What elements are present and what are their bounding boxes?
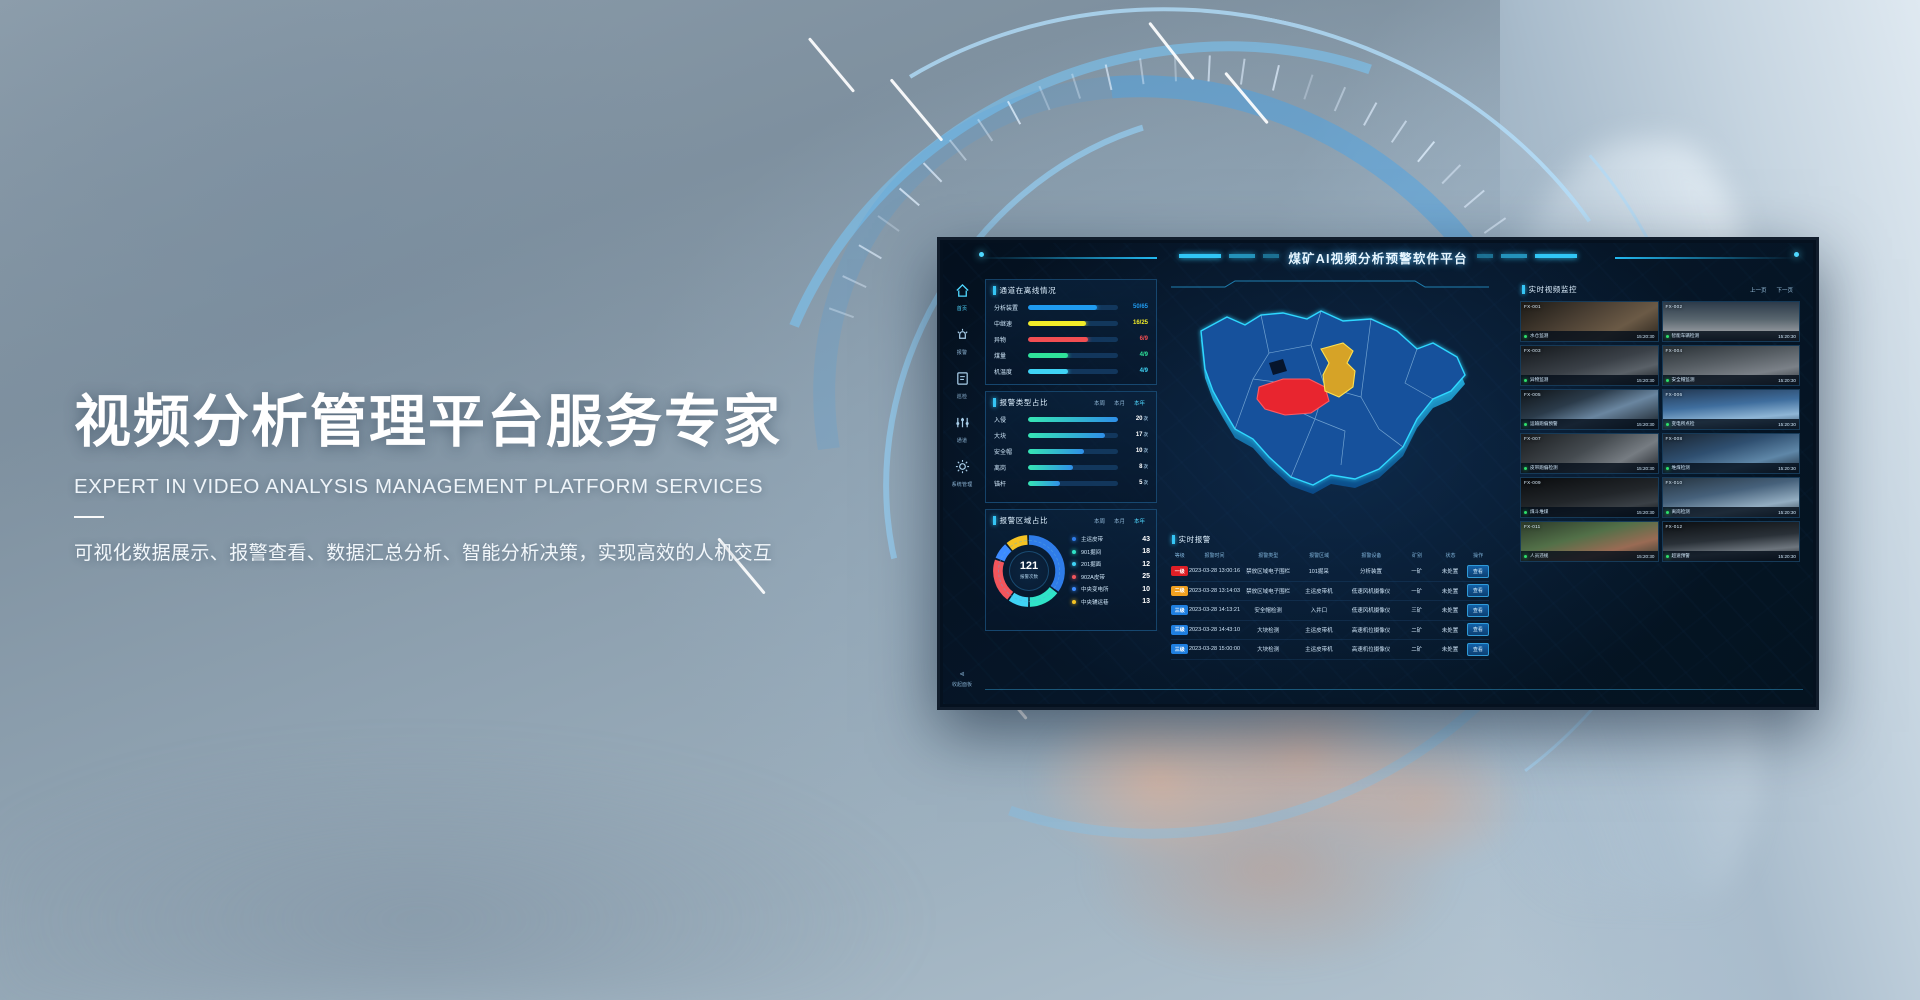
alarm-type-tab[interactable]: 本年 <box>1134 399 1145 407</box>
legend-value: 25 <box>1132 573 1150 580</box>
sidebar-item-label: 巡检 <box>957 393 967 400</box>
alarm-type-value: 8次 <box>1118 464 1148 470</box>
sidebar-item-label: 报警 <box>957 349 967 356</box>
alarm-view-button[interactable]: 查看 <box>1467 623 1489 636</box>
channel-row-list: 分析装置50/65中继速16/25异物6/9煤量4/9机温度4/9 <box>986 299 1156 379</box>
legend-label: 902A皮带 <box>1081 573 1132 581</box>
channel-row-value: 16/25 <box>1118 320 1148 326</box>
alarm-type-track <box>1028 481 1118 486</box>
channel-row-value: 6/9 <box>1118 336 1148 342</box>
video-tile-footer: 煤斗堆煤15:20:30 <box>1521 507 1658 517</box>
alarm-view-button[interactable]: 查看 <box>1467 565 1489 578</box>
channel-row-fill <box>1028 353 1068 358</box>
alarm-type-fill <box>1028 449 1084 454</box>
legend-color-dot <box>1072 550 1076 554</box>
alarm-type-period-tabs[interactable]: 本周本月本年 <box>1094 399 1149 407</box>
donut-center-value: 121 <box>1020 561 1038 572</box>
donut-legend-item: 902A皮带25 <box>1072 571 1150 584</box>
person-hand-blur <box>1000 690 1560 990</box>
alarm-mine: 二矿 <box>1400 645 1433 653</box>
video-tile-footer: 异物监测15:20:30 <box>1521 375 1658 385</box>
donut-legend-item: 主运皮带43 <box>1072 533 1150 546</box>
video-tile-name: 异物监测 <box>1530 377 1548 383</box>
alarm-area: 入井口 <box>1296 606 1342 614</box>
panel-realtime-alarm-header: 实时报警 <box>1165 529 1495 548</box>
channel-row-track <box>1028 321 1118 326</box>
legend-value: 13 <box>1132 598 1150 605</box>
background-blur-floor <box>0 660 1100 1000</box>
video-tile-time: 15:20:30 <box>1778 554 1796 559</box>
dashboard-monitor: 煤矿AI视频分析预警软件平台 首页报警巡检通道系统管理⫷收起面板 通道在离线情况… <box>937 237 1819 710</box>
alarm-column-header: 报警类型 <box>1241 552 1296 559</box>
channel-row-track <box>1028 337 1118 342</box>
alarm-table-header: 等级报警时间报警类型报警区域报警设备矿别状态操作 <box>1171 548 1489 562</box>
sidebar-item-1[interactable]: 首页 <box>943 275 981 319</box>
video-channel-id: FX-002 <box>1666 304 1683 309</box>
alarm-area-tab[interactable]: 本年 <box>1134 517 1145 525</box>
video-channel-id: FX-003 <box>1524 348 1541 353</box>
alarm-type-name: 入侵 <box>994 415 1028 424</box>
legend-color-dot <box>1072 537 1076 541</box>
donut-legend: 主运皮带43901掘间18201掘面12902A皮带25中央变电所10中央辅运巷… <box>1066 533 1150 608</box>
panel-realtime-alarm-title: 实时报警 <box>1179 534 1211 545</box>
channel-row-value: 50/65 <box>1118 304 1148 310</box>
page-description: 可视化数据展示、报警查看、数据汇总分析、智能分析决策，实现高效的人机交互 <box>74 538 904 565</box>
video-tile[interactable]: FX-006变电所点检15:20:30 <box>1662 389 1801 430</box>
video-channel-id: FX-009 <box>1524 480 1541 485</box>
alarm-column-header: 矿别 <box>1400 552 1433 559</box>
status-led-icon <box>1524 423 1527 426</box>
video-next-page-button[interactable]: 下一页 <box>1776 286 1793 294</box>
video-channel-id: FX-006 <box>1666 392 1683 397</box>
alarm-type-row: 入侵20次 <box>986 411 1156 427</box>
dashboard-header: 煤矿AI视频分析预警软件平台 <box>943 243 1813 273</box>
channel-row: 煤量4/9 <box>986 347 1156 363</box>
donut-legend-item: 中央辅运巷13 <box>1072 596 1150 609</box>
video-tile-name: 皮带跑偏检测 <box>1530 465 1558 471</box>
video-tile-time: 15:20:30 <box>1637 334 1655 339</box>
panel-video-title: 实时视频监控 <box>1529 284 1578 295</box>
alarm-area: 主运皮带机 <box>1296 587 1342 595</box>
channel-row-fill <box>1028 337 1088 342</box>
channel-row-fill <box>1028 305 1097 310</box>
legend-color-dot <box>1072 562 1076 566</box>
alarm-time: 2023-03-28 14:13:21 <box>1188 607 1240 613</box>
video-tile-footer: 皮带跑偏检测15:20:30 <box>1521 463 1658 473</box>
alarm-type-row: 离岗8次 <box>986 459 1156 475</box>
panel-channel-title: 通道在离线情况 <box>1000 285 1057 296</box>
alarm-type: 禁放区域电子围栏 <box>1241 567 1296 575</box>
video-tile-name: 运输跑偏预警 <box>1530 421 1558 427</box>
alarm-status: 未处置 <box>1433 645 1466 653</box>
video-tile-time: 15:20:30 <box>1778 422 1796 427</box>
gear-icon <box>955 459 970 479</box>
page-subtitle: EXPERT IN VIDEO ANALYSIS MANAGEMENT PLAT… <box>74 475 904 499</box>
status-led-icon <box>1524 555 1527 558</box>
video-tile-footer: 智能车辆检测15:20:30 <box>1663 331 1800 341</box>
alarm-type-fill <box>1028 481 1060 486</box>
dashboard-screen: 煤矿AI视频分析预警软件平台 首页报警巡检通道系统管理⫷收起面板 通道在离线情况… <box>943 243 1813 704</box>
legend-color-dot <box>1072 600 1076 604</box>
alarm-type-unit: 次 <box>1144 448 1149 453</box>
alarm-column-header: 等级 <box>1171 550 1188 560</box>
video-tile-name: 堆煤检测 <box>1672 465 1690 471</box>
legend-label: 901掘间 <box>1081 548 1132 556</box>
video-tile[interactable]: FX-012超速预警15:20:30 <box>1662 521 1801 562</box>
alarm-type-row: 安全帽10次 <box>986 443 1156 459</box>
alarm-column-header: 状态 <box>1434 552 1467 559</box>
channel-row: 中继速16/25 <box>986 315 1156 331</box>
panel-alarm-type: 报警类型占比 本周本月本年 入侵20次大块17次安全帽10次离岗8次锚杆5次 <box>985 391 1157 503</box>
alarm-table-row[interactable]: 三级2023-03-28 14:13:21安全帽检测入井口低速风机摄像仪三矿未处… <box>1171 601 1489 621</box>
alarm-device: 高速机位摄像仪 <box>1342 645 1400 653</box>
alarm-type-unit: 次 <box>1144 464 1149 469</box>
channel-row-name: 煤量 <box>994 351 1028 360</box>
alarm-type-fill <box>1028 465 1073 470</box>
video-channel-id: FX-012 <box>1666 524 1683 529</box>
alarm-type-name: 大块 <box>994 431 1028 440</box>
alarm-area: 101掘采 <box>1296 567 1342 575</box>
sidebar-item-2[interactable]: 报警 <box>943 319 981 363</box>
video-channel-id: FX-007 <box>1524 436 1541 441</box>
video-channel-id: FX-010 <box>1666 480 1683 485</box>
alarm-column-header: 报警时间 <box>1188 552 1240 559</box>
alarm-table-row[interactable]: 一级2023-03-28 13:00:16禁放区域电子围栏101掘采分析装置一矿… <box>1171 562 1489 582</box>
donut-chart: 121 报警次数 <box>992 534 1066 608</box>
status-led-icon <box>1666 511 1669 514</box>
alarm-mine: 一矿 <box>1400 567 1433 575</box>
alarm-type-track <box>1028 417 1118 422</box>
legend-value: 12 <box>1132 561 1150 568</box>
alarm-level-badge: 三级 <box>1171 644 1188 654</box>
channel-row: 机温度4/9 <box>986 363 1156 379</box>
alarm-view-button[interactable]: 查看 <box>1467 604 1489 617</box>
status-led-icon <box>1666 335 1669 338</box>
sidebar-item-5[interactable]: 系统管理 <box>943 451 981 495</box>
channel-row-name: 中继速 <box>994 319 1028 328</box>
alarm-status: 未处置 <box>1433 587 1466 595</box>
map-region-warn <box>1321 343 1355 397</box>
home-icon <box>955 283 970 303</box>
alarm-type-row: 大块17次 <box>986 427 1156 443</box>
alarm-level-badge: 三级 <box>1171 605 1188 615</box>
alarm-device: 高速机位摄像仪 <box>1342 626 1400 634</box>
sidebar-item-label: 首页 <box>957 305 967 312</box>
frame-bottom-line <box>985 689 1803 690</box>
video-tile-time: 15:20:30 <box>1637 554 1655 559</box>
alarm-type-track <box>1028 433 1118 438</box>
alarm-type-name: 锚杆 <box>994 479 1028 488</box>
video-tile-time: 15:20:30 <box>1778 466 1796 471</box>
alarm-type-value: 5次 <box>1118 480 1148 486</box>
channel-row-fill <box>1028 369 1068 374</box>
panel-channel-header: 通道在离线情况 <box>986 280 1156 299</box>
channel-row-name: 异物 <box>994 335 1028 344</box>
video-tile-name: 安全帽监测 <box>1672 377 1695 383</box>
sidebar-item-4[interactable]: 通道 <box>943 407 981 451</box>
video-tile-footer: 人员违规15:20:30 <box>1521 551 1658 561</box>
video-tile[interactable]: FX-004安全帽监测15:20:30 <box>1662 345 1801 386</box>
alarm-view-button[interactable]: 查看 <box>1467 643 1489 656</box>
channel-row-track <box>1028 305 1118 310</box>
video-tile-footer: 超速预警15:20:30 <box>1663 551 1800 561</box>
legend-label: 主运皮带 <box>1081 535 1132 543</box>
alarm-type: 安全帽检测 <box>1241 606 1296 614</box>
sidebar-item-label: 通道 <box>957 437 967 444</box>
region-map-svg <box>1165 279 1495 521</box>
legend-label: 中央辅运巷 <box>1081 598 1132 606</box>
channel-row-track <box>1028 369 1118 374</box>
alarm-time: 2023-03-28 13:00:16 <box>1188 568 1240 574</box>
channel-row-value: 4/9 <box>1118 352 1148 358</box>
alarm-icon <box>955 327 970 347</box>
video-tile-name: 水仓监测 <box>1530 333 1548 339</box>
alarm-column-header: 报警设备 <box>1342 552 1400 559</box>
alarm-mine: 一矿 <box>1400 587 1433 595</box>
alarm-status: 未处置 <box>1433 606 1466 614</box>
alarm-type-tab[interactable]: 本月 <box>1114 399 1125 407</box>
panel-channel-online: 通道在离线情况 分析装置50/65中继速16/25异物6/9煤量4/9机温度4/… <box>985 279 1157 385</box>
panel-alarm-type-title: 报警类型占比 <box>1000 397 1049 408</box>
video-channel-id: FX-008 <box>1666 436 1683 441</box>
channel-row-fill <box>1028 321 1086 326</box>
video-tile[interactable]: FX-008堆煤检测15:20:30 <box>1662 433 1801 474</box>
alarm-status: 未处置 <box>1433 567 1466 575</box>
alarm-column-header: 报警区域 <box>1296 552 1342 559</box>
legend-value: 43 <box>1132 536 1150 543</box>
video-tile-footer: 堆煤检测15:20:30 <box>1663 463 1800 473</box>
alarm-column-header: 操作 <box>1467 552 1489 559</box>
alarm-type-value: 20次 <box>1118 416 1148 422</box>
alarm-table-row[interactable]: 三级2023-03-28 15:00:00大块检测主运皮带机高速机位摄像仪二矿未… <box>1171 640 1489 660</box>
video-tile[interactable]: FX-003异物监测15:20:30 <box>1520 345 1659 386</box>
channel-row: 分析装置50/65 <box>986 299 1156 315</box>
alarm-device: 分析装置 <box>1342 567 1400 575</box>
alarm-type-row-list: 入侵20次大块17次安全帽10次离岗8次锚杆5次 <box>986 411 1156 491</box>
sidebar-item-3[interactable]: 巡检 <box>943 363 981 407</box>
status-led-icon <box>1666 467 1669 470</box>
video-tile-grid: FX-001水仓监测15:20:30FX-002智能车辆检测15:20:30FX… <box>1515 298 1805 567</box>
donut-legend-item: 901掘间18 <box>1072 546 1150 559</box>
channel-row-track <box>1028 353 1118 358</box>
legend-label: 中央变电所 <box>1081 585 1132 593</box>
channel-row-name: 分析装置 <box>994 303 1028 312</box>
video-tile-name: 人员违规 <box>1530 553 1548 559</box>
alarm-table: 等级报警时间报警类型报警区域报警设备矿别状态操作 一级2023-03-28 13… <box>1165 548 1495 660</box>
alarm-area-tab[interactable]: 本月 <box>1114 517 1125 525</box>
alarm-view-button[interactable]: 查看 <box>1467 584 1489 597</box>
video-tile[interactable]: FX-010离岗检测15:20:30 <box>1662 477 1801 518</box>
alarm-type-unit: 次 <box>1144 432 1149 437</box>
video-tile-footer: 运输跑偏预警15:20:30 <box>1521 419 1658 429</box>
video-channel-id: FX-011 <box>1524 524 1541 529</box>
alarm-device: 低速风机摄像仪 <box>1342 606 1400 614</box>
sidebar-item-label: 系统管理 <box>952 481 973 488</box>
alarm-type-tab[interactable]: 本周 <box>1094 399 1105 407</box>
alarm-mine: 二矿 <box>1400 626 1433 634</box>
video-tile[interactable]: FX-001水仓监测15:20:30 <box>1520 301 1659 342</box>
video-tile-time: 15:20:30 <box>1637 422 1655 427</box>
video-tile-time: 15:20:30 <box>1778 334 1796 339</box>
video-tile[interactable]: FX-009煤斗堆煤15:20:30 <box>1520 477 1659 518</box>
video-pagination[interactable]: 上一页 下一页 <box>1750 286 1798 294</box>
alarm-table-body: 一级2023-03-28 13:00:16禁放区域电子围栏101掘采分析装置一矿… <box>1171 562 1489 660</box>
panel-alarm-area: 报警区域占比 本周本月本年 121 报警次数 主运皮带43901掘间18201掘… <box>985 509 1157 631</box>
alarm-type-value: 17次 <box>1118 432 1148 438</box>
alarm-type-track <box>1028 465 1118 470</box>
video-tile[interactable]: FX-005运输跑偏预警15:20:30 <box>1520 389 1659 430</box>
panel-video-header: 实时视频监控 上一页 下一页 <box>1515 279 1805 298</box>
alarm-time: 2023-03-28 13:14:03 <box>1188 588 1240 594</box>
video-channel-id: FX-001 <box>1524 304 1541 309</box>
alarm-status: 未处置 <box>1433 626 1466 634</box>
video-tile-footer: 水仓监测15:20:30 <box>1521 331 1658 341</box>
donut-legend-item: 201掘面12 <box>1072 558 1150 571</box>
alarm-level-badge: 二级 <box>1171 586 1188 596</box>
panel-realtime-alarm: 实时报警 等级报警时间报警类型报警区域报警设备矿别状态操作 一级2023-03-… <box>1165 529 1495 665</box>
legend-value: 10 <box>1132 586 1150 593</box>
legend-color-dot <box>1072 575 1076 579</box>
channel-row: 异物6/9 <box>986 331 1156 347</box>
video-tile-time: 15:20:30 <box>1637 378 1655 383</box>
legend-label: 201掘面 <box>1081 560 1132 568</box>
alarm-type-name: 安全帽 <box>994 447 1028 456</box>
sidebar-collapse-button[interactable]: ⫷收起面板 <box>943 663 981 688</box>
legend-value: 18 <box>1132 548 1150 555</box>
channel-row-value: 4/9 <box>1118 368 1148 374</box>
alarm-area-donut-block: 121 报警次数 主运皮带43901掘间18201掘面12902A皮带25中央变… <box>986 529 1156 608</box>
alarm-type-fill <box>1028 417 1118 422</box>
video-tile-name: 智能车辆检测 <box>1672 333 1700 339</box>
alarm-type-fill <box>1028 433 1105 438</box>
video-channel-id: FX-004 <box>1666 348 1683 353</box>
video-tile-time: 15:20:30 <box>1637 510 1655 515</box>
alarm-area: 主运皮带机 <box>1296 626 1342 634</box>
panel-alarm-area-header: 报警区域占比 本周本月本年 <box>986 510 1156 529</box>
video-tile[interactable]: FX-007皮带跑偏检测15:20:30 <box>1520 433 1659 474</box>
alarm-device: 低速风机摄像仪 <box>1342 587 1400 595</box>
video-tile[interactable]: FX-002智能车辆检测15:20:30 <box>1662 301 1801 342</box>
video-tile-name: 变电所点检 <box>1672 421 1695 427</box>
alarm-mine: 三矿 <box>1400 606 1433 614</box>
panel-alarm-type-header: 报警类型占比 本周本月本年 <box>986 392 1156 411</box>
donut-center: 121 报警次数 <box>1009 551 1049 591</box>
status-led-icon <box>1524 335 1527 338</box>
video-tile-time: 15:20:30 <box>1778 378 1796 383</box>
alarm-type-name: 离岗 <box>994 463 1028 472</box>
video-prev-page-button[interactable]: 上一页 <box>1750 286 1767 294</box>
status-led-icon <box>1524 379 1527 382</box>
alarm-type: 大块检测 <box>1241 626 1296 634</box>
divider-rule <box>74 516 104 518</box>
alarm-time: 2023-03-28 15:00:00 <box>1188 646 1240 652</box>
panel-video-monitor: 实时视频监控 上一页 下一页 FX-001水仓监测15:20:30FX-002智… <box>1515 279 1805 666</box>
video-tile-time: 15:20:30 <box>1637 466 1655 471</box>
panel-region-map[interactable] <box>1165 279 1495 521</box>
alarm-type-value: 10次 <box>1118 448 1148 454</box>
legend-color-dot <box>1072 587 1076 591</box>
video-tile-footer: 变电所点检15:20:30 <box>1663 419 1800 429</box>
alarm-level-badge: 一级 <box>1171 566 1188 576</box>
alarm-type-unit: 次 <box>1144 416 1149 421</box>
donut-center-label: 报警次数 <box>1020 574 1038 580</box>
inspection-icon <box>955 371 970 391</box>
video-tile-footer: 离岗检测15:20:30 <box>1663 507 1800 517</box>
channel-icon <box>955 415 970 435</box>
channel-row-name: 机温度 <box>994 367 1028 376</box>
alarm-type-row: 锚杆5次 <box>986 475 1156 491</box>
sidebar-collapse-label: 收起面板 <box>943 681 981 688</box>
panel-alarm-area-title: 报警区域占比 <box>1000 515 1049 526</box>
alarm-area-period-tabs[interactable]: 本周本月本年 <box>1094 517 1149 525</box>
alarm-table-row[interactable]: 二级2023-03-28 13:14:03禁放区域电子围栏主运皮带机低速风机摄像… <box>1171 582 1489 602</box>
video-tile[interactable]: FX-011人员违规15:20:30 <box>1520 521 1659 562</box>
alarm-area: 主运皮带机 <box>1296 645 1342 653</box>
alarm-time: 2023-03-28 14:43:10 <box>1188 627 1240 633</box>
status-led-icon <box>1666 423 1669 426</box>
alarm-area-tab[interactable]: 本周 <box>1094 517 1105 525</box>
page-title: 视频分析管理平台服务专家 <box>74 393 904 453</box>
status-led-icon <box>1524 511 1527 514</box>
alarm-table-row[interactable]: 三级2023-03-28 14:43:10大块检测主运皮带机高速机位摄像仪二矿未… <box>1171 621 1489 641</box>
video-channel-id: FX-005 <box>1524 392 1541 397</box>
hero-text-block: 视频分析管理平台服务专家 EXPERT IN VIDEO ANALYSIS MA… <box>74 393 904 565</box>
video-tile-name: 离岗检测 <box>1672 509 1690 515</box>
collapse-icon: ⫷ <box>960 669 965 678</box>
donut-legend-item: 中央变电所10 <box>1072 583 1150 596</box>
video-tile-name: 煤斗堆煤 <box>1530 509 1548 515</box>
status-led-icon <box>1524 467 1527 470</box>
video-tile-name: 超速预警 <box>1672 553 1690 559</box>
sidebar-nav[interactable]: 首页报警巡检通道系统管理⫷收起面板 <box>943 275 981 704</box>
alarm-level-badge: 三级 <box>1171 625 1188 635</box>
alarm-type: 禁放区域电子围栏 <box>1241 587 1296 595</box>
alarm-type: 大块检测 <box>1241 645 1296 653</box>
status-led-icon <box>1666 555 1669 558</box>
alarm-type-track <box>1028 449 1118 454</box>
video-tile-time: 15:20:30 <box>1778 510 1796 515</box>
status-led-icon <box>1666 379 1669 382</box>
video-tile-footer: 安全帽监测15:20:30 <box>1663 375 1800 385</box>
alarm-type-unit: 次 <box>1144 480 1149 485</box>
